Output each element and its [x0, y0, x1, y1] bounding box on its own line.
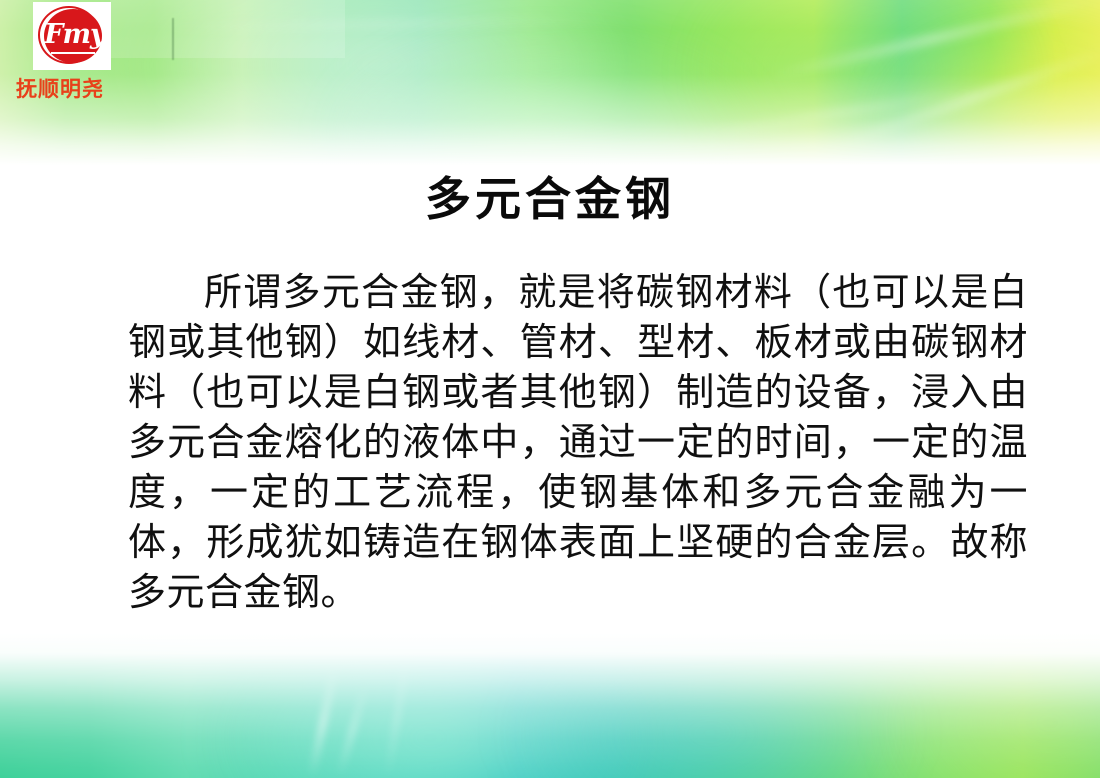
bottom-decorative-banner	[0, 633, 1100, 778]
logo-mark-icon: Fmy	[33, 2, 111, 70]
slide-title: 多元合金钢	[0, 172, 1100, 227]
bottom-banner-white-fade	[0, 633, 1100, 778]
slide-content: 多元合金钢 所谓多元合金钢，就是将碳钢材料（也可以是白钢或其他钢）如线材、管材、…	[0, 150, 1100, 617]
presentation-slide: Fmy 抚顺明尧 多元合金钢 所谓多元合金钢，就是将碳钢材料（也可以是白钢或其他…	[0, 0, 1100, 778]
top-decorative-banner	[0, 0, 1100, 165]
logo-monogram: Fmy	[33, 2, 111, 70]
logo-underbar-icon	[51, 51, 95, 54]
company-name-label: 抚顺明尧	[16, 79, 136, 100]
top-banner-white-fade	[0, 0, 1100, 165]
slide-body-paragraph: 所谓多元合金钢，就是将碳钢材料（也可以是白钢或其他钢）如线材、管材、型材、板材或…	[0, 267, 1100, 617]
company-logo: Fmy 抚顺明尧	[16, 2, 136, 100]
